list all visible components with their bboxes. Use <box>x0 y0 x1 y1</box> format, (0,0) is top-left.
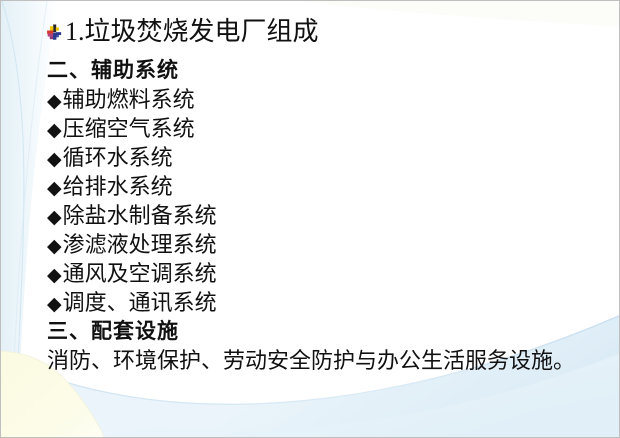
diamond-bullet-icon: ◆ <box>47 265 63 286</box>
diamond-bullet-icon: ◆ <box>47 207 63 228</box>
supporting-facilities-paragraph: 消防、环境保护、劳动安全防护与办公生活服务设施。 <box>47 346 587 375</box>
bullet-item-circulating-water: ◆循环水系统 <box>47 143 587 172</box>
bullet-item-ventilation-hvac: ◆通风及空调系统 <box>47 259 587 288</box>
diamond-bullet-icon: ◆ <box>47 236 63 257</box>
diamond-bullet-icon: ◆ <box>47 294 63 315</box>
section-heading-2-label: 二、辅助系统 <box>47 58 179 82</box>
bullet-item-demineralized-water: ◆除盐水制备系统 <box>47 201 587 230</box>
diamond-bullet-icon: ◆ <box>47 149 63 170</box>
pinwheel-icon <box>45 24 64 43</box>
section-heading-2: 二、辅助系统 <box>47 56 587 85</box>
slide-canvas: 1.垃圾焚烧发电厂组成 二、辅助系统 ◆辅助燃料系统 ◆压缩空气系统 ◆循环水系… <box>0 0 620 438</box>
bullet-item-label: 调度、通讯系统 <box>63 290 217 315</box>
bullet-item-label: 压缩空气系统 <box>63 116 195 141</box>
section-heading-3: 三、配套设施 <box>47 317 587 346</box>
bullet-item-label: 辅助燃料系统 <box>63 87 195 112</box>
bullet-item-label: 循环水系统 <box>63 145 173 170</box>
diamond-bullet-icon: ◆ <box>47 178 63 199</box>
bullet-item-compressed-air: ◆压缩空气系统 <box>47 114 587 143</box>
body-text-block: 二、辅助系统 ◆辅助燃料系统 ◆压缩空气系统 ◆循环水系统 ◆给排水系统 ◆除盐… <box>47 56 587 375</box>
bullet-item-label: 除盐水制备系统 <box>63 203 217 228</box>
section-heading-3-label: 三、配套设施 <box>47 319 179 343</box>
page-title: 1.垃圾焚烧发电厂组成 <box>65 17 319 47</box>
bullet-item-label: 给排水系统 <box>63 174 173 199</box>
supporting-facilities-text: 消防、环境保护、劳动安全防护与办公生活服务设施。 <box>47 348 575 373</box>
bullet-item-label: 通风及空调系统 <box>63 261 217 286</box>
bullet-item-label: 渗滤液处理系统 <box>63 232 217 257</box>
slide-content: 1.垃圾焚烧发电厂组成 二、辅助系统 ◆辅助燃料系统 ◆压缩空气系统 ◆循环水系… <box>1 1 620 438</box>
bullet-item-water-supply-drainage: ◆给排水系统 <box>47 172 587 201</box>
diamond-bullet-icon: ◆ <box>47 91 63 112</box>
bullet-item-auxiliary-fuel: ◆辅助燃料系统 <box>47 85 587 114</box>
slide-title-row: 1.垃圾焚烧发电厂组成 <box>45 13 319 51</box>
bullet-item-dispatch-communication: ◆调度、通讯系统 <box>47 288 587 317</box>
diamond-bullet-icon: ◆ <box>47 120 63 141</box>
bullet-item-leachate-treatment: ◆渗滤液处理系统 <box>47 230 587 259</box>
